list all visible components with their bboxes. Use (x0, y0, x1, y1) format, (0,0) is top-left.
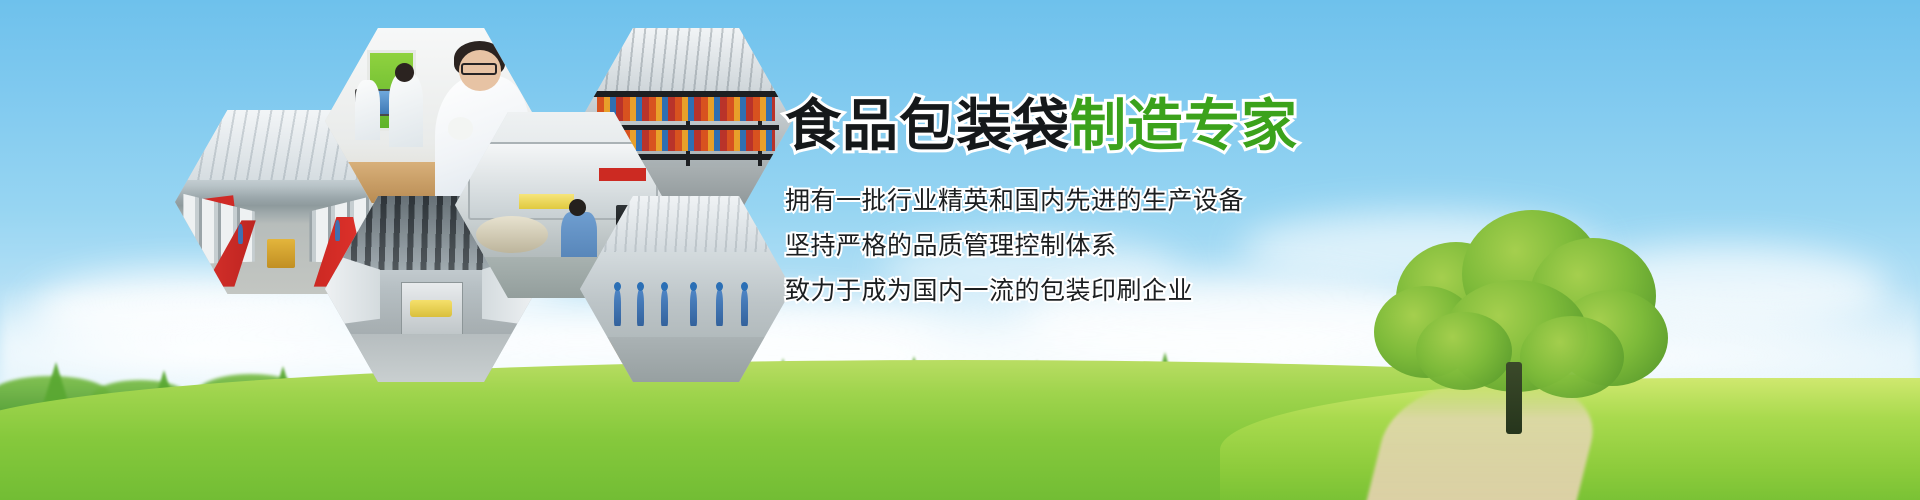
subtitle-line-1: 拥有一批行业精英和国内先进的生产设备 (785, 178, 1505, 223)
headline-accent: 制造专家 (1070, 94, 1298, 159)
headline: 食品包装袋制造专家 (785, 96, 1505, 158)
subtitle-line-3: 致力于成为国内一流的包装印刷企业 (785, 268, 1505, 313)
banner-copy: 食品包装袋制造专家 拥有一批行业精英和国内先进的生产设备 坚持严格的品质管理控制… (785, 96, 1505, 313)
subtitle-list: 拥有一批行业精英和国内先进的生产设备 坚持严格的品质管理控制体系 致力于成为国内… (785, 178, 1505, 313)
headline-primary: 食品包装袋 (785, 94, 1070, 159)
subtitle-line-2: 坚持严格的品质管理控制体系 (785, 223, 1505, 268)
hexagon-photo-collage (0, 0, 800, 500)
hero-banner: 食品包装袋制造专家 拥有一批行业精英和国内先进的生产设备 坚持严格的品质管理控制… (0, 0, 1920, 500)
